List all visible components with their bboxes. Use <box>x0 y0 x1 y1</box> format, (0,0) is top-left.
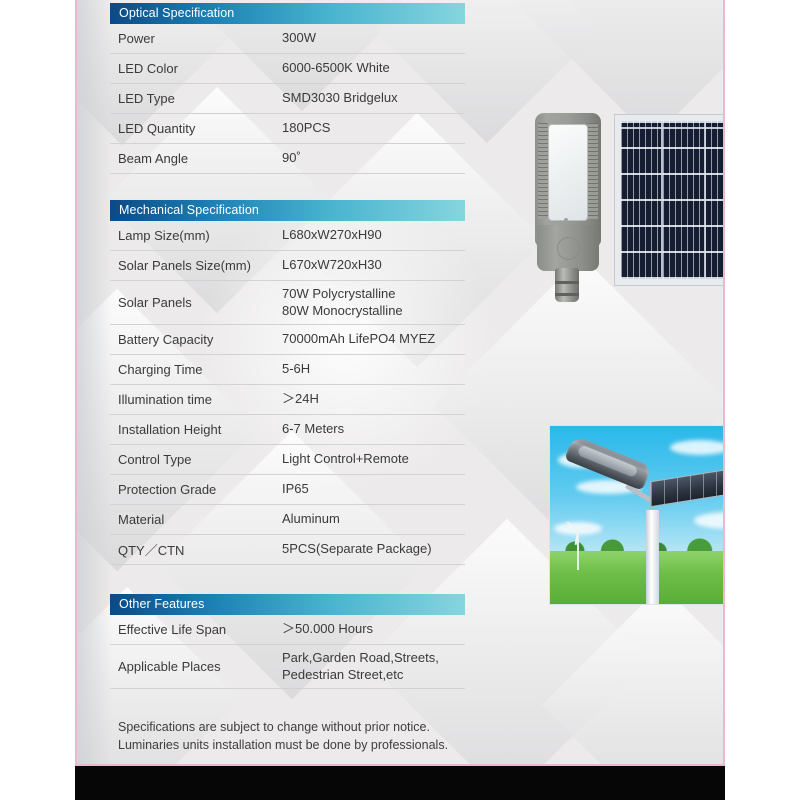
row-value: ＞50.000 Hours <box>282 621 465 638</box>
lamp-heatsink-fins <box>538 123 548 219</box>
table-row: LED Quantity 180PCS <box>110 114 465 144</box>
lamp-mounting-neck <box>555 268 579 302</box>
table-row: Battery Capacity 70000mAh LifePO4 MYEZ <box>110 325 465 355</box>
section-other-features: Other Features Effective Life Span ＞50.0… <box>110 594 465 689</box>
lamp-head-product-image <box>535 113 601 303</box>
lamp-sensor-dot <box>564 218 568 222</box>
table-row: Beam Angle 90˚ <box>110 144 465 174</box>
table-row: Solar Panels Size(mm) L670xW720xH30 <box>110 251 465 281</box>
row-label: Charging Time <box>110 362 282 377</box>
row-label: Lamp Size(mm) <box>110 228 282 243</box>
table-row: LED Color 6000-6500K White <box>110 54 465 84</box>
row-value: 300W <box>282 30 465 47</box>
solar-panel-product-image <box>614 114 725 286</box>
row-value: 90˚ <box>282 150 465 167</box>
table-row: Lamp Size(mm) L680xW270xH90 <box>110 221 465 251</box>
row-label: Solar Panels <box>110 295 282 310</box>
row-label: Applicable Places <box>110 659 282 674</box>
table-row: Applicable Places Park,Garden Road,Stree… <box>110 645 465 689</box>
row-label: Power <box>110 31 282 46</box>
row-value: 5-6H <box>282 361 465 378</box>
row-value: 180PCS <box>282 120 465 137</box>
bottom-black-bar <box>75 766 725 800</box>
row-label: Effective Life Span <box>110 622 282 637</box>
row-value: SMD3030 Bridgelux <box>282 90 465 107</box>
section-mechanical-specification: Mechanical Specification Lamp Size(mm) L… <box>110 200 465 565</box>
row-label: Solar Panels Size(mm) <box>110 258 282 273</box>
row-label: LED Color <box>110 61 282 76</box>
table-row: LED Type SMD3030 Bridgelux <box>110 84 465 114</box>
row-label: Installation Height <box>110 422 282 437</box>
row-value: Aluminum <box>282 511 465 528</box>
row-value: IP65 <box>282 481 465 498</box>
table-row: Solar Panels 70W Polycrystalline 80W Mon… <box>110 281 465 325</box>
lamp-heatsink-fins <box>588 123 598 219</box>
table-row: Material Aluminum <box>110 505 465 535</box>
lamp-clamp-band <box>555 293 579 296</box>
section-optical-specification: Optical Specification Power 300W LED Col… <box>110 3 465 174</box>
table-row: Illumination time ＞24H <box>110 385 465 415</box>
table-row: Charging Time 5-6H <box>110 355 465 385</box>
table-row: Installation Height 6-7 Meters <box>110 415 465 445</box>
row-value: L680xW270xH90 <box>282 227 465 244</box>
row-label: Beam Angle <box>110 151 282 166</box>
watermark-shape <box>77 0 113 764</box>
row-label: Control Type <box>110 452 282 467</box>
table-row: Control Type Light Control+Remote <box>110 445 465 475</box>
lamp-rear-circle <box>557 237 580 260</box>
table-row: Power 300W <box>110 24 465 54</box>
light-pole <box>646 510 659 605</box>
row-label: LED Type <box>110 91 282 106</box>
solar-panel-divider <box>661 121 663 279</box>
table-row: Protection Grade IP65 <box>110 475 465 505</box>
row-label: Protection Grade <box>110 482 282 497</box>
solar-panel-divider <box>704 121 706 279</box>
spec-sheet: Optical Specification Power 300W LED Col… <box>0 0 800 800</box>
table-row: Effective Life Span ＞50.000 Hours <box>110 615 465 645</box>
row-value: 5PCS(Separate Package) <box>282 541 465 558</box>
row-label: QTY／CTN <box>110 540 282 559</box>
row-value: L670xW720xH30 <box>282 257 465 274</box>
installation-scene-image <box>549 425 725 605</box>
row-value: Park,Garden Road,Streets, Pedestrian Str… <box>282 650 465 683</box>
disclaimer-text: Specifications are subject to change wit… <box>118 718 598 754</box>
section-header-optical: Optical Specification <box>110 3 465 24</box>
row-value: 70W Polycrystalline 80W Monocrystalline <box>282 286 465 319</box>
row-label: Battery Capacity <box>110 332 282 347</box>
row-value: 6-7 Meters <box>282 421 465 438</box>
solar-cells <box>621 121 725 279</box>
table-row: QTY／CTN 5PCS(Separate Package) <box>110 535 465 565</box>
row-value: Light Control+Remote <box>282 451 465 468</box>
cloud <box>670 440 725 455</box>
section-header-mechanical: Mechanical Specification <box>110 200 465 221</box>
row-label: Material <box>110 512 282 527</box>
solar-panel-busbar <box>621 127 725 129</box>
row-label: Illumination time <box>110 392 282 407</box>
content-panel: Optical Specification Power 300W LED Col… <box>75 0 725 766</box>
section-header-other-features: Other Features <box>110 594 465 615</box>
row-value: 70000mAh LifePO4 MYEZ <box>282 331 465 348</box>
row-label: LED Quantity <box>110 121 282 136</box>
row-value: 6000-6500K White <box>282 60 465 77</box>
row-value: ＞24H <box>282 391 465 408</box>
lamp-clamp-band <box>555 281 579 284</box>
lamp-led-lens <box>548 124 588 221</box>
